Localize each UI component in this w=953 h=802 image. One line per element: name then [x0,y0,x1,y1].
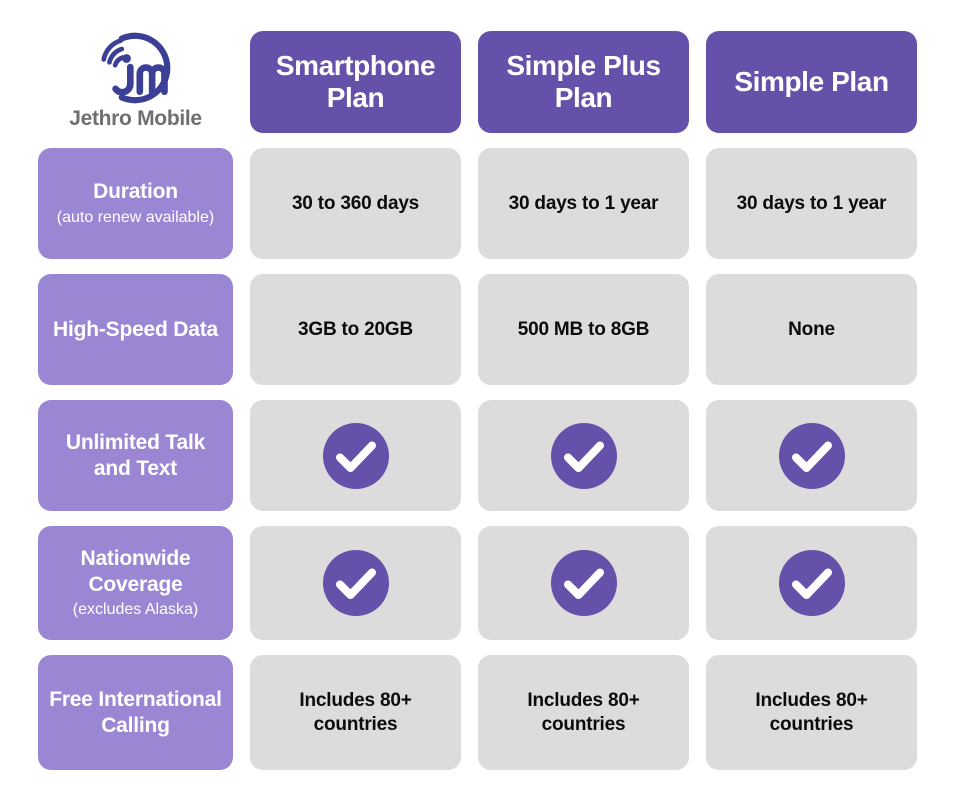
value-cell: 30 days to 1 year [478,148,689,259]
value-text: 30 days to 1 year [509,192,659,216]
table-row-nationwide-coverage: Nationwide Coverage (excludes Alaska) [38,526,915,640]
plan-comparison-table: Jethro Mobile Smartphone Plan Simple Plu… [0,0,953,802]
value-text: 30 days to 1 year [737,192,887,216]
check-circle-icon [551,423,617,489]
feature-label-high-speed-data: High-Speed Data [38,274,233,385]
plan-header-smartphone[interactable]: Smartphone Plan [250,31,461,133]
feature-title: Duration [93,179,178,205]
value-text: Includes 80+ countries [716,689,907,737]
table-row-duration: Duration (auto renew available) 30 to 36… [38,148,915,259]
value-cell [250,400,461,511]
check-circle-icon [779,423,845,489]
value-text: Includes 80+ countries [260,689,451,737]
table-row-high-speed-data: High-Speed Data 3GB to 20GB 500 MB to 8G… [38,274,915,385]
value-cell: Includes 80+ countries [250,655,461,770]
value-cell [706,400,917,511]
feature-label-duration: Duration (auto renew available) [38,148,233,259]
feature-title: Nationwide Coverage [46,546,225,597]
value-cell [478,400,689,511]
value-cell: 30 days to 1 year [706,148,917,259]
value-cell: None [706,274,917,385]
value-cell: 3GB to 20GB [250,274,461,385]
plan-header-label: Smartphone Plan [260,50,451,115]
check-circle-icon [323,423,389,489]
plan-header-label: Simple Plus Plan [488,50,679,115]
value-text: 30 to 360 days [292,192,419,216]
value-cell: 500 MB to 8GB [478,274,689,385]
table-row-unlimited-talk-and-text: Unlimited Talk and Text [38,400,915,511]
jethro-mobile-jm-wifi-logo-icon [90,31,182,105]
brand-name: Jethro Mobile [69,107,202,131]
value-cell [478,526,689,640]
feature-subtitle: (excludes Alaska) [73,600,198,620]
value-cell: 30 to 360 days [250,148,461,259]
feature-title: Free International Calling [46,687,225,738]
brand-logo: Jethro Mobile [38,31,233,133]
plan-header-label: Simple Plan [734,66,888,98]
feature-subtitle: (auto renew available) [57,208,214,228]
value-cell: Includes 80+ countries [478,655,689,770]
value-text: 500 MB to 8GB [518,318,650,342]
value-cell [706,526,917,640]
table-row-free-international-calling: Free International Calling Includes 80+ … [38,655,915,770]
plan-header-simple[interactable]: Simple Plan [706,31,917,133]
check-circle-icon [779,550,845,616]
feature-label-nationwide-coverage: Nationwide Coverage (excludes Alaska) [38,526,233,640]
feature-label-free-international-calling: Free International Calling [38,655,233,770]
feature-title: High-Speed Data [53,317,218,343]
table-header-row: Jethro Mobile Smartphone Plan Simple Plu… [38,31,915,133]
value-cell: Includes 80+ countries [706,655,917,770]
value-text: Includes 80+ countries [488,689,679,737]
feature-title: Unlimited Talk and Text [46,430,225,481]
value-cell [250,526,461,640]
value-text: None [788,318,835,342]
check-circle-icon [323,550,389,616]
value-text: 3GB to 20GB [298,318,413,342]
check-circle-icon [551,550,617,616]
plan-header-simple-plus[interactable]: Simple Plus Plan [478,31,689,133]
feature-label-unlimited-talk-and-text: Unlimited Talk and Text [38,400,233,511]
